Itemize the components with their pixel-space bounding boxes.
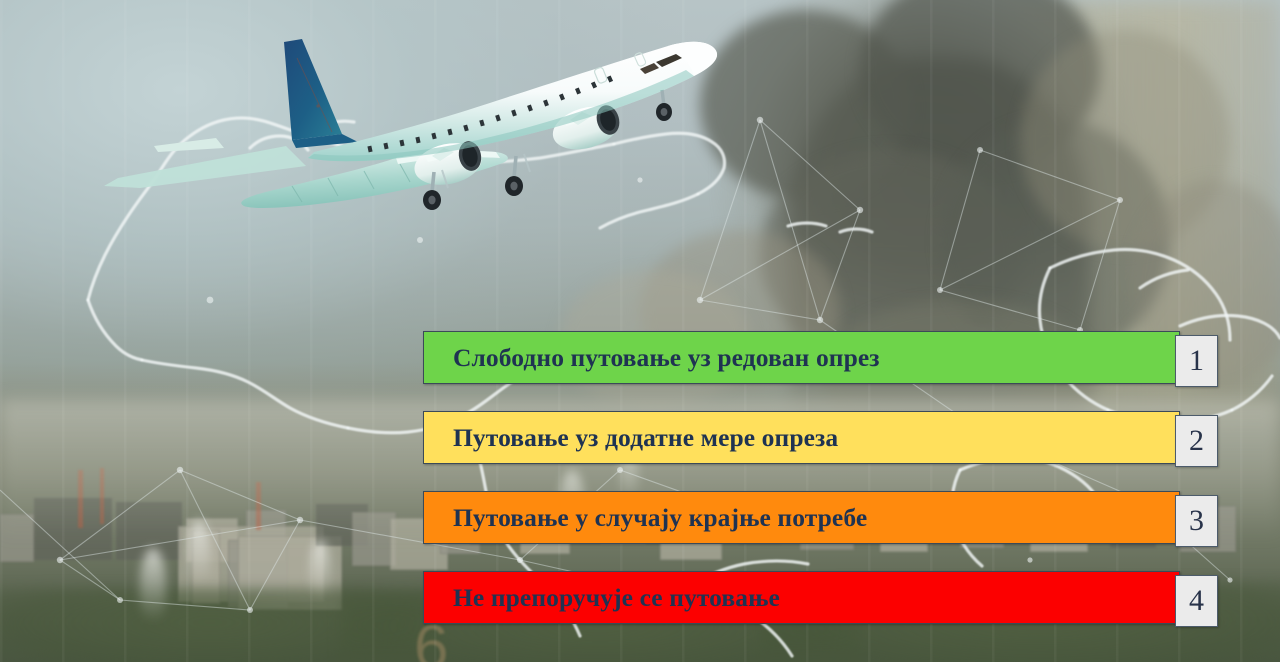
- legend-bar-level-2[interactable]: Путовање уз додатне мере опреза: [423, 411, 1180, 464]
- legend-number-level-4: 4: [1175, 575, 1218, 627]
- advisory-legend: Слободно путовање уз редован опрез 1 Пут…: [0, 0, 1280, 662]
- legend-number-level-1: 1: [1175, 335, 1218, 387]
- legend-row[interactable]: Путовање у случају крајње потребе 3: [423, 491, 1180, 544]
- legend-label-level-3: Путовање у случају крајње потребе: [453, 503, 867, 533]
- legend-row[interactable]: Путовање уз додатне мере опреза 2: [423, 411, 1180, 464]
- legend-bar-level-1[interactable]: Слободно путовање уз редован опрез: [423, 331, 1180, 384]
- legend-label-level-4: Не препоручује се путовање: [453, 583, 780, 613]
- advisory-graphic: 6: [0, 0, 1280, 662]
- legend-label-level-2: Путовање уз додатне мере опреза: [453, 423, 838, 453]
- legend-row[interactable]: Слободно путовање уз редован опрез 1: [423, 331, 1180, 384]
- legend-number-level-3: 3: [1175, 495, 1218, 547]
- legend-row[interactable]: Не препоручује се путовање 4: [423, 571, 1180, 624]
- legend-label-level-1: Слободно путовање уз редован опрез: [453, 343, 880, 373]
- legend-bar-level-3[interactable]: Путовање у случају крајње потребе: [423, 491, 1180, 544]
- legend-bar-level-4[interactable]: Не препоручује се путовање: [423, 571, 1180, 624]
- legend-number-level-2: 2: [1175, 415, 1218, 467]
